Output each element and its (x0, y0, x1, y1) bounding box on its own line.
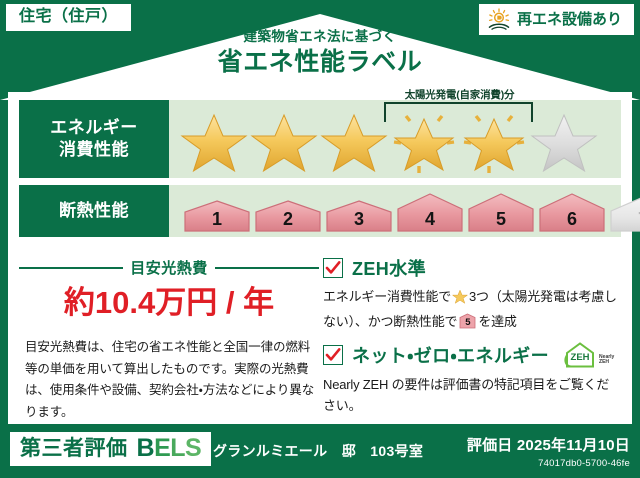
star-filled-solar (460, 110, 528, 174)
star-icon (452, 289, 468, 311)
performance-section: エネルギー 消費性能 太陽光発電(自家消費)分 (19, 100, 621, 237)
bels-letter-b: B (137, 434, 155, 462)
insulation-level-1: 1 (183, 193, 251, 233)
evaluation-id: 74017db0-5700-46fe (467, 458, 630, 469)
bels-letter-l: L (170, 434, 185, 462)
label-header: 住宅（住戸） (0, 0, 640, 100)
zeh-standard-heading: ZEH水準 (323, 255, 621, 281)
insulation-level-value: 4 (396, 209, 464, 230)
zeh-standard-title: ZEH水準 (352, 255, 426, 281)
utility-cost-label: 目安光熱費 (130, 257, 208, 278)
zeh-logo-subtext: Nearly ZEH (599, 355, 614, 369)
evaluation-info: 評価日 2025年11月10日 74017db0-5700-46fe (467, 434, 630, 469)
insulation-level-2: 2 (254, 193, 322, 233)
utility-cost-value: 約10.4万円 / 年 (19, 287, 319, 318)
bels-en-logo: BELS (137, 436, 202, 461)
house-type-badge: 住宅（住戸） (6, 4, 131, 31)
utility-cost-heading: 目安光熱費 (19, 257, 319, 278)
zeh-standard-text: エネルギー消費性能で3つ（太陽光発電は考慮しない）、かつ断熱性能で5を達成 (323, 286, 621, 333)
bels-jp-label: 第三者評価 (20, 438, 128, 459)
property-name: グランルミエール 邸 103号室 (213, 441, 423, 461)
utility-cost-note: 目安光熱費は、住宅の省エネ性能と全国一律の燃料等の単価を用いて算出したものです。… (19, 337, 319, 423)
insulation-level-value: 6 (538, 209, 606, 230)
solar-bracket-label: 太陽光発電(自家消費)分 (367, 87, 552, 102)
energy-performance-label: 住宅（住戸） (0, 0, 640, 478)
star-filled (250, 110, 318, 174)
zeh-standard-text-part3: を達成 (478, 314, 516, 329)
utility-cost-column: 目安光熱費 約10.4万円 / 年 目安光熱費は、住宅の省エネ性能と全国一律の燃… (19, 247, 319, 419)
renewable-equipment-label: 再エネ設備あり (517, 12, 622, 27)
star-filled-solar (390, 110, 458, 174)
insulation-level-scale: 1 2 3 (169, 189, 640, 233)
energy-performance-tag: エネルギー 消費性能 (19, 100, 169, 178)
insulation-level-5: 5 (467, 189, 535, 233)
zeh-netzero-block: ネット・ゼロ・エネルギー ZEH Nearly (323, 341, 621, 418)
zeh-netzero-heading: ネット・ゼロ・エネルギー ZEH Nearly (323, 341, 621, 369)
insulation-level-value: 2 (254, 209, 322, 230)
title-subtitle: 建築物省エネ法に基づく (0, 30, 640, 44)
zeh-logo-sub2: ZEH (599, 360, 614, 366)
insulation-level-3: 3 (325, 193, 393, 233)
house-type-label: 住宅（住戸） (19, 8, 118, 25)
heading-rule-right (215, 267, 319, 269)
label-body: エネルギー 消費性能 太陽光発電(自家消費)分 (8, 92, 632, 424)
zeh-netzero-text: Nearly ZEH の要件は評価書の特記項目をご覧ください。 (323, 374, 621, 418)
zeh-column: ZEH水準 エネルギー消費性能で3つ（太陽光発電は考慮しない）、かつ断熱性能で5… (319, 247, 621, 419)
check-icon (323, 258, 343, 278)
check-icon (323, 345, 343, 365)
bels-letter-e: E (154, 434, 170, 462)
insulation-level-value: 3 (325, 209, 393, 230)
star-filled (320, 110, 388, 174)
zeh-standard-block: ZEH水準 エネルギー消費性能で3つ（太陽光発電は考慮しない）、かつ断熱性能で5… (323, 255, 621, 333)
insulation-level-6: 6 (538, 189, 606, 233)
star-empty (530, 110, 598, 174)
insulation-performance-tag: 断熱性能 (19, 185, 169, 237)
star-filled (180, 110, 248, 174)
title-main: 省エネ性能ラベル (0, 50, 640, 75)
zeh-netzero-title: ネット・ゼロ・エネルギー (352, 342, 549, 368)
energy-performance-row: エネルギー 消費性能 太陽光発電(自家消費)分 (19, 100, 621, 178)
insulation-performance-row: 断熱性能 1 (19, 185, 621, 237)
zeh-standard-text-part1: エネルギー消費性能で (323, 289, 451, 304)
bels-letter-s: S (185, 434, 201, 462)
zeh-logo-icon: ZEH Nearly ZEH (563, 341, 614, 369)
insulation-badge-icon: 5 (459, 313, 476, 329)
sun-icon (487, 8, 511, 30)
label-title: 建築物省エネ法に基づく 省エネ性能ラベル (0, 30, 640, 75)
insulation-level-4: 4 (396, 189, 464, 233)
label-footer: 第三者評価 BELS グランルミエール 邸 103号室 評価日 2025年11月… (0, 424, 640, 478)
insulation-badge-value: 5 (459, 315, 476, 331)
insulation-level-value: 7 (609, 209, 640, 230)
evaluation-date: 評価日 2025年11月10日 (467, 434, 630, 455)
insulation-tag-label: 断熱性能 (59, 200, 129, 222)
insulation-level-value: 5 (467, 209, 535, 230)
energy-tag-line2: 消費性能 (59, 139, 129, 161)
energy-tag-line1: エネルギー (50, 117, 138, 139)
insulation-level-7: 7 (609, 193, 640, 233)
energy-rating-area: 太陽光発電(自家消費)分 (169, 100, 621, 178)
star-rating (169, 110, 598, 174)
lower-content: 目安光熱費 約10.4万円 / 年 目安光熱費は、住宅の省エネ性能と全国一律の燃… (19, 247, 621, 419)
heading-rule-left (19, 267, 123, 269)
zeh-logo-text: ZEH (563, 352, 597, 363)
insulation-rating-area: 1 2 3 (169, 185, 640, 237)
bels-badge: 第三者評価 BELS (10, 432, 211, 466)
insulation-level-value: 1 (183, 209, 251, 230)
